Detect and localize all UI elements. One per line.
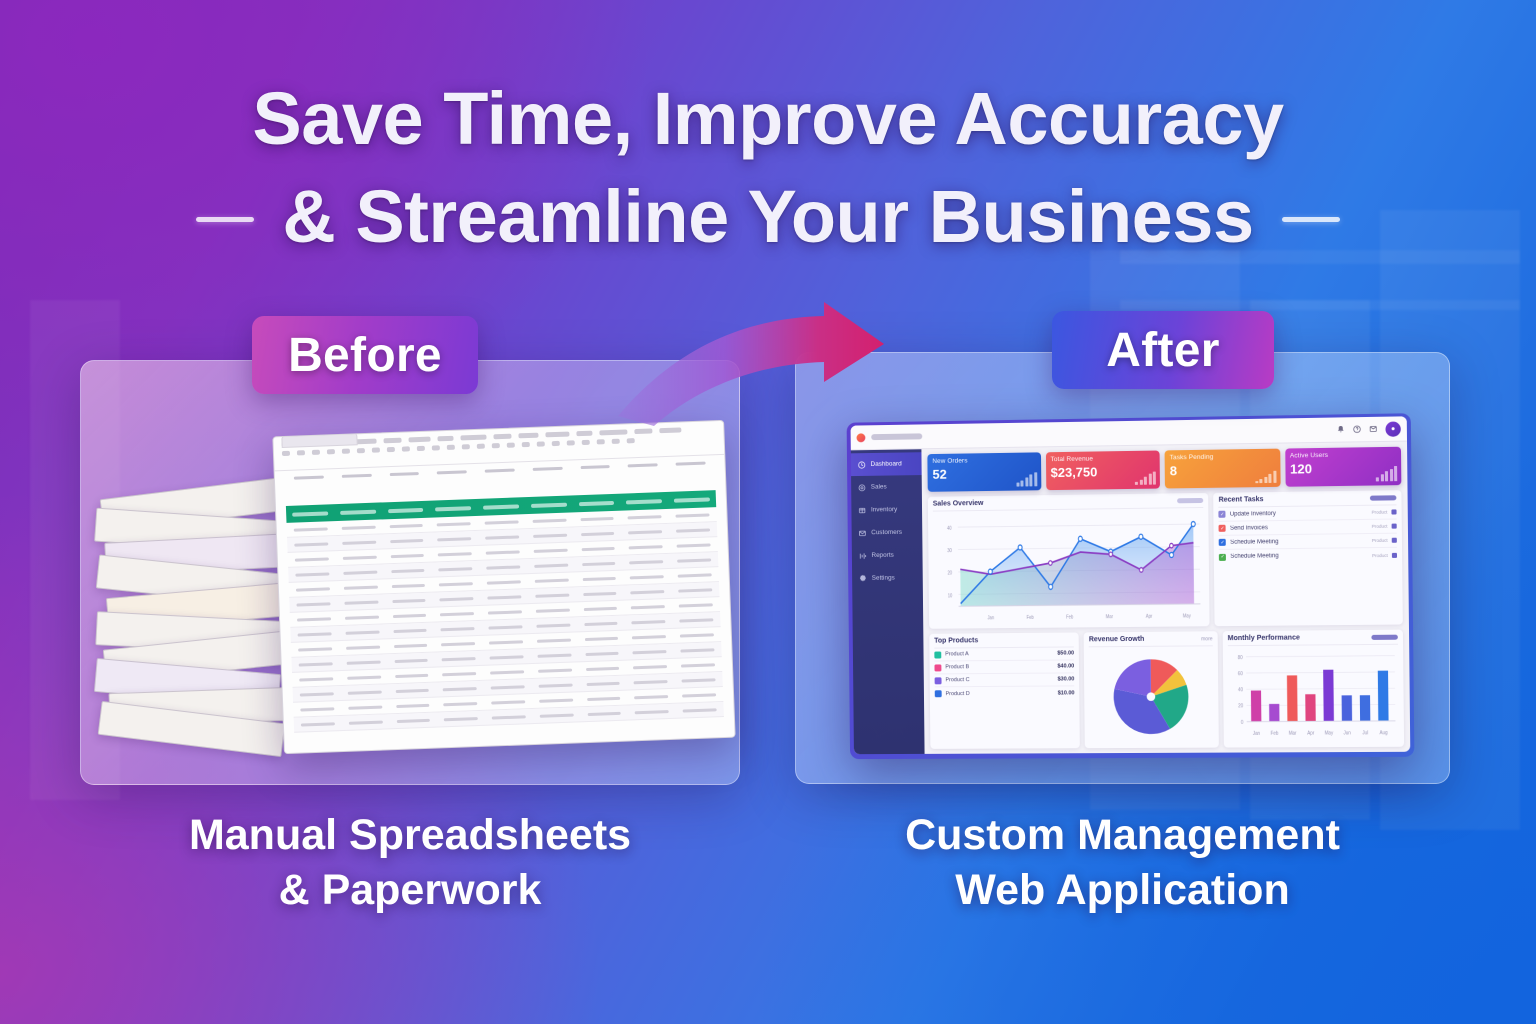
task-label: Update Inventory: [1230, 509, 1368, 517]
sidebar-item-customers[interactable]: Customers: [852, 521, 923, 545]
revenue-growth-pie-chart: [1089, 646, 1214, 744]
svg-text:Mar: Mar: [1106, 614, 1114, 621]
monthly-performance-bar-chart: 80 60 40 20 0: [1228, 645, 1399, 744]
before-badge: Before: [252, 316, 478, 394]
sidebar-item-label: Sales: [871, 483, 887, 490]
product-label: Product D: [946, 690, 1054, 697]
card-title: Recent Tasks: [1219, 496, 1264, 504]
task-badge-icon: [1392, 552, 1397, 557]
checkbox-icon[interactable]: ✓: [1219, 553, 1226, 560]
svg-text:Feb: Feb: [1066, 614, 1074, 621]
rule-left-icon: [196, 217, 254, 222]
svg-text:40: 40: [1238, 687, 1243, 694]
app-logo-icon: [856, 433, 865, 442]
card-title: Top Products: [934, 637, 978, 644]
product-value: $40.00: [1057, 664, 1074, 670]
gear-icon: [859, 574, 867, 582]
rule-right-icon: [1282, 217, 1340, 222]
users-icon: [858, 529, 866, 537]
sparkline-icon: [1135, 470, 1156, 485]
kpi-label: Total Revenue: [1050, 455, 1154, 464]
before-caption: Manual Spreadsheets & Paperwork: [80, 808, 740, 918]
svg-text:80: 80: [1238, 655, 1243, 662]
kpi-card-total-revenue[interactable]: Total Revenue $23,750: [1045, 450, 1160, 490]
help-icon[interactable]: [1353, 425, 1361, 433]
product-label: Product C: [945, 677, 1053, 684]
monthly-performance-card: Monthly Performance 80 60 40: [1223, 630, 1405, 748]
tag-icon: [858, 483, 866, 491]
after-caption-line-2: Web Application: [795, 863, 1450, 918]
sidebar-item-label: Reports: [871, 552, 893, 559]
sparkline-icon: [1255, 468, 1276, 483]
messages-icon[interactable]: [1369, 425, 1377, 433]
kpi-card-tasks-pending[interactable]: Tasks Pending 8: [1165, 449, 1281, 489]
color-swatch-icon: [934, 664, 941, 671]
svg-text:Jun: Jun: [1343, 730, 1351, 737]
page-title: Save Time, Improve Accuracy & Streamline…: [0, 70, 1536, 265]
kpi-label: Active Users: [1290, 451, 1396, 460]
task-label: Send Invoices: [1230, 523, 1368, 531]
revenue-growth-card: Revenue Growth more: [1084, 631, 1219, 748]
task-meta: Product: [1372, 524, 1388, 529]
spreadsheet-rows: [277, 507, 734, 733]
card-action-pill[interactable]: [1177, 498, 1203, 503]
color-swatch-icon: [935, 690, 942, 697]
color-swatch-icon: [935, 677, 942, 684]
dashboard-row-2: Sales Overview: [928, 490, 1403, 629]
product-label: Product A: [945, 651, 1053, 658]
sparkline-icon: [1016, 471, 1037, 486]
checkbox-icon[interactable]: ✓: [1219, 525, 1226, 532]
sidebar-item-label: Dashboard: [870, 460, 901, 467]
checkbox-icon[interactable]: ✓: [1219, 511, 1226, 518]
before-caption-line-2: & Paperwork: [80, 863, 740, 918]
card-title: Sales Overview: [933, 500, 984, 508]
sidebar-item-dashboard[interactable]: Dashboard: [851, 452, 922, 476]
after-caption: Custom Management Web Application: [795, 808, 1450, 918]
svg-text:30: 30: [947, 548, 952, 555]
checkbox-icon[interactable]: ✓: [1219, 539, 1226, 546]
list-item[interactable]: Product B $40.00: [934, 661, 1074, 675]
svg-text:60: 60: [1238, 671, 1243, 678]
dashboard-screen: ● Dashboard Sales Inventory: [851, 416, 1411, 754]
svg-text:Jan: Jan: [1253, 731, 1261, 738]
card-action-pill[interactable]: [1371, 635, 1398, 640]
avatar[interactable]: ●: [1385, 421, 1400, 436]
svg-text:May: May: [1183, 613, 1192, 620]
dashboard-sidebar: Dashboard Sales Inventory Customers Repo…: [851, 449, 925, 754]
before-caption-line-1: Manual Spreadsheets: [80, 808, 740, 863]
list-item[interactable]: Product C $30.00: [935, 674, 1075, 688]
task-label: Schedule Meeting: [1230, 538, 1368, 546]
task-badge-icon: [1392, 538, 1397, 543]
top-products-card: Top Products Product A $50.00 Product B …: [929, 633, 1080, 749]
sales-overview-chart: 40 30 20 10: [933, 508, 1205, 625]
dashboard-row-3: Top Products Product A $50.00 Product B …: [929, 630, 1404, 749]
task-badge-icon: [1392, 524, 1397, 529]
sidebar-item-reports[interactable]: Reports: [852, 544, 923, 568]
topbar-actions: ●: [1337, 421, 1401, 437]
kpi-card-new-orders[interactable]: New Orders 52: [927, 452, 1041, 491]
svg-text:May: May: [1325, 731, 1334, 738]
sidebar-item-label: Inventory: [871, 506, 897, 513]
grid-icon: [858, 461, 866, 469]
svg-text:Apr: Apr: [1146, 613, 1153, 620]
dashboard-content: New Orders 52 Total Revenue $23,750: [921, 442, 1410, 754]
product-value: $50.00: [1057, 651, 1074, 657]
sidebar-item-sales[interactable]: Sales: [851, 475, 922, 499]
headline-line-1: Save Time, Improve Accuracy: [0, 70, 1536, 168]
sales-overview-card: Sales Overview: [928, 493, 1210, 629]
svg-text:Jan: Jan: [987, 615, 994, 622]
task-label: Schedule Meeting: [1230, 552, 1368, 560]
chart-icon: [859, 552, 867, 560]
dashboard-body: Dashboard Sales Inventory Customers Repo…: [851, 442, 1410, 755]
box-icon: [858, 506, 866, 514]
sidebar-item-label: Customers: [871, 529, 902, 536]
svg-text:40: 40: [947, 525, 952, 532]
svg-text:Apr: Apr: [1307, 731, 1314, 738]
kpi-label: New Orders: [932, 456, 1035, 465]
recent-tasks-card: Recent Tasks ✓ Update Inventory Product …: [1213, 490, 1402, 626]
list-item[interactable]: Product A $50.00: [934, 648, 1074, 662]
task-meta: Product: [1372, 538, 1388, 543]
card-title: Revenue Growth: [1089, 636, 1145, 643]
after-caption-line-1: Custom Management: [795, 808, 1450, 863]
product-label: Product B: [945, 664, 1053, 671]
sidebar-item-label: Settings: [872, 575, 895, 582]
kpi-label: Tasks Pending: [1170, 453, 1275, 462]
kpi-row: New Orders 52 Total Revenue $23,750: [927, 447, 1401, 492]
svg-text:Aug: Aug: [1379, 730, 1387, 737]
svg-text:Feb: Feb: [1027, 614, 1035, 621]
card-title: Monthly Performance: [1228, 635, 1300, 643]
after-badge: After: [1052, 311, 1274, 389]
card-more-label[interactable]: more: [1201, 636, 1213, 642]
headline-line-2-wrap: & Streamline Your Business: [282, 168, 1253, 266]
task-meta: Product: [1372, 510, 1388, 515]
svg-text:20: 20: [947, 570, 952, 577]
svg-text:Mar: Mar: [1289, 731, 1297, 738]
dashboard-window[interactable]: ● Dashboard Sales Inventory: [847, 413, 1415, 759]
svg-text:Feb: Feb: [1271, 731, 1279, 738]
headline-line-2: & Streamline Your Business: [282, 175, 1253, 258]
kpi-card-active-users[interactable]: Active Users 120: [1285, 447, 1402, 487]
sparkline-icon: [1376, 466, 1398, 481]
product-value: $10.00: [1058, 690, 1075, 696]
notifications-icon[interactable]: [1337, 425, 1345, 433]
transition-arrow-icon: [612, 300, 902, 430]
spreadsheet-window[interactable]: [272, 420, 735, 754]
list-item[interactable]: ✓ Schedule Meeting Product: [1219, 548, 1397, 564]
color-swatch-icon: [934, 651, 941, 658]
list-item[interactable]: Product D $10.00: [935, 687, 1075, 701]
product-value: $30.00: [1058, 677, 1075, 683]
sidebar-item-inventory[interactable]: Inventory: [851, 498, 922, 522]
svg-text:Jul: Jul: [1362, 730, 1368, 737]
task-badge-icon: [1391, 509, 1396, 514]
svg-text:0: 0: [1241, 720, 1244, 727]
svg-text:20: 20: [1238, 703, 1243, 710]
svg-text:10: 10: [948, 593, 953, 600]
app-name-placeholder: [871, 433, 922, 440]
sidebar-item-settings[interactable]: Settings: [852, 566, 923, 590]
task-meta: Product: [1372, 552, 1388, 557]
card-action-pill[interactable]: [1370, 495, 1397, 500]
